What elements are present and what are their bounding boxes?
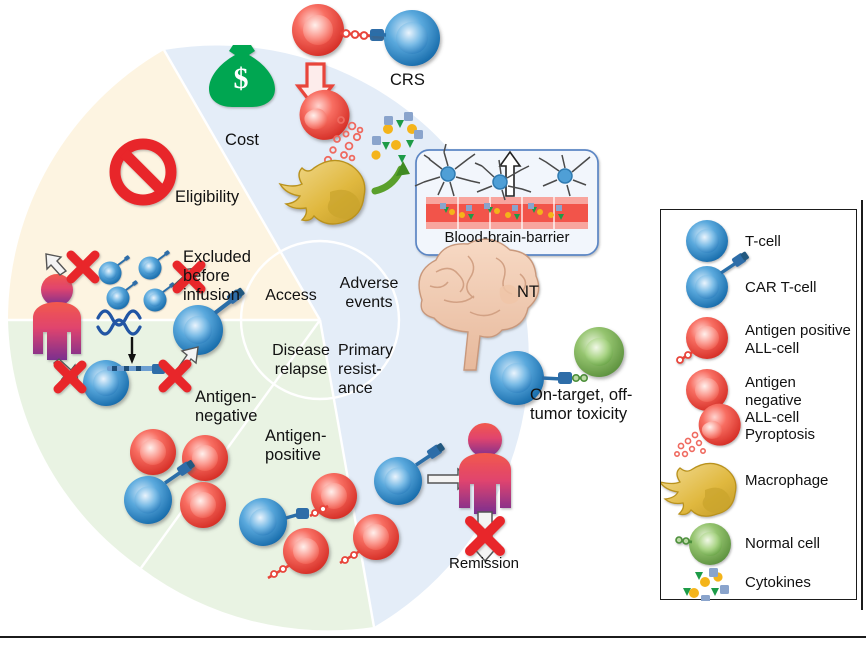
figure-canvas: $ <box>0 0 866 645</box>
sector-label-primary-resistance[interactable]: Primary resist- ance <box>338 341 400 398</box>
legend-t-cell-icon <box>686 220 728 262</box>
svg-text:$: $ <box>234 62 249 95</box>
legend-normal-cell-icon <box>676 523 731 565</box>
legend-label-t-cell: T-cell <box>745 233 781 251</box>
legend-label-cytokines: Cytokines <box>745 574 811 592</box>
legend-label-antigen-negative-all-cell: Antigen negative ALL-cell <box>745 374 856 427</box>
legend-pyroptosis-icon <box>675 404 741 457</box>
blood-brain-barrier-label: Blood-brain-barrier <box>440 228 574 247</box>
cost-label: Cost <box>200 131 284 150</box>
legend-label-macrophage: Macrophage <box>745 472 828 490</box>
legend-car-t-cell-icon <box>686 250 750 308</box>
legend-label-car-t-cell: CAR T-cell <box>745 279 816 297</box>
legend-label-antigen-positive-all-cell: Antigen positive ALL-cell <box>745 322 851 357</box>
legend-label-normal-cell: Normal cell <box>745 535 820 553</box>
pyroptosis-cell <box>300 90 350 140</box>
antigen-positive-label: Antigen- positive <box>265 427 326 465</box>
legend-label-pyroptosis: Pyroptosis <box>745 426 815 444</box>
bottom-border-rule <box>0 636 866 638</box>
remission-label: Remission <box>449 554 519 573</box>
antigen-negative-label: Antigen- negative <box>195 388 257 426</box>
on-target-off-tumor-label: On-target, off- tumor toxicity <box>530 386 632 424</box>
legend-cytokines-icon <box>683 568 729 601</box>
legend-antigen-positive-all-cell-icon <box>677 317 728 363</box>
sector-label-disease-relapse[interactable]: Disease relapse <box>266 341 336 379</box>
crs-label: CRS <box>390 71 425 90</box>
normal-cell-offtumor <box>574 327 624 377</box>
car-t-cell-antigen-positive <box>239 498 287 546</box>
antigen-positive-all-cell-crs <box>292 4 344 56</box>
nt-label: NT <box>517 283 539 302</box>
car-synapse-offtumor <box>542 372 587 384</box>
legend-panel: T-cell CAR T-cell Antigen positive ALL-c… <box>660 209 857 600</box>
excluded-before-infusion-label: Excluded before infusion <box>183 248 251 305</box>
sector-label-access[interactable]: Access <box>253 286 329 305</box>
sector-label-adverse-events[interactable]: Adverse events <box>330 274 408 312</box>
legend-macrophage-icon <box>661 463 736 516</box>
eligibility-label: Eligibility <box>175 188 239 207</box>
right-border-rule <box>861 200 863 610</box>
